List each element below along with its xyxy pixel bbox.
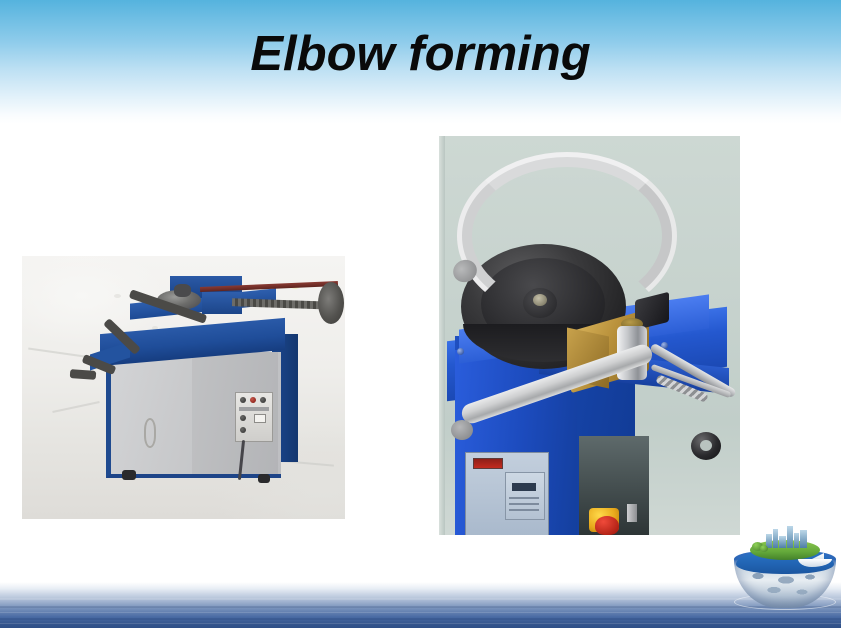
tree-icon [760,545,768,552]
cabinet-door-handle[interactable] [144,418,156,448]
globe-island-logo [730,528,840,612]
nameplate-line [509,509,539,511]
panel-knob[interactable] [260,397,266,403]
elbow-forming-closeup-photo [439,136,740,535]
slide-footer-water [0,582,841,628]
panel-indicator-light [250,397,256,403]
machine-fitting [627,504,637,522]
machine-caster [122,470,136,480]
handwheel [318,282,344,324]
panel-knob[interactable] [240,397,246,403]
table-bolt [457,348,464,355]
panel-knob[interactable] [240,427,246,433]
panel-switch[interactable] [254,414,266,423]
panel-knob[interactable] [240,415,246,421]
pipe-highlight [457,152,677,320]
lever-knob-hole [700,440,712,451]
panel-label-strip [239,407,269,411]
bent-pipe-arm [72,298,208,386]
elbow-forming-machine-photo [22,256,345,519]
die-hub [174,284,191,297]
slide: Elbow forming [0,0,841,628]
nameplate-line [509,503,539,505]
nameplate-logo [512,483,536,491]
machine-caster [258,474,270,483]
nameplate-line [509,497,539,499]
led-display [473,458,503,469]
pipe-straight-end [451,420,473,440]
page-title: Elbow forming [0,24,841,84]
emergency-stop-button[interactable] [595,516,619,535]
backdrop-edge [439,136,445,535]
city-skyline-icon [766,526,810,548]
panel-nameplate [505,472,545,520]
machine-control-panel [235,392,273,442]
